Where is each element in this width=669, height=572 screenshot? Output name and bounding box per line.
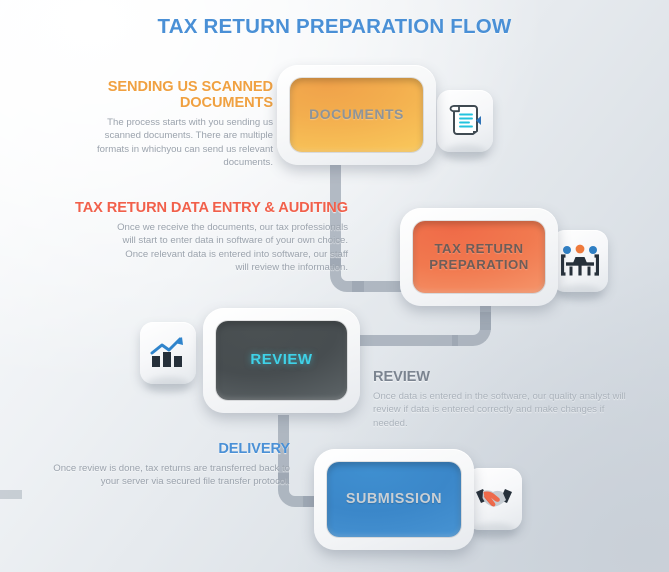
step-heading-taxreturn: TAX RETURN DATA ENTRY & AUDITING [62,200,348,216]
growth-bar-chart-icon [140,322,196,384]
card-label-documents: DOCUMENTS [290,78,423,152]
card-label-taxreturn: TAX RETURN PREPARATION [413,221,545,293]
card-documents[interactable]: DOCUMENTS [277,65,436,165]
connector-submission-inlet [0,490,22,499]
scroll-document-icon [437,90,493,152]
step-heading-delivery: DELIVERY [35,441,290,457]
card-submission[interactable]: SUBMISSION [314,449,474,550]
card-taxreturn[interactable]: TAX RETURN PREPARATION [400,208,558,306]
step-body-delivery: Once review is done, tax returns are tra… [45,462,290,489]
team-meeting-icon [552,230,608,292]
card-review[interactable]: REVIEW [203,308,360,413]
step-text-review: REVIEW Once data is entered in the softw… [373,369,633,430]
step-heading-review: REVIEW [373,369,633,385]
card-label-submission: SUBMISSION [327,462,461,537]
step-text-documents: SENDING US SCANNED DOCUMENTS The process… [18,79,273,170]
card-label-review: REVIEW [216,321,347,400]
step-text-delivery: DELIVERY Once review is done, tax return… [35,441,290,489]
step-body-documents: The process starts with you sending us s… [77,116,273,170]
infographic-canvas: TAX RETURN PREPARATION FLOW SENDING US S… [0,0,669,572]
step-body-review: Once data is entered in the software, ou… [373,390,633,430]
step-heading-documents: SENDING US SCANNED DOCUMENTS [18,79,273,111]
handshake-icon [466,468,522,530]
step-text-taxreturn: TAX RETURN DATA ENTRY & AUDITING Once we… [62,200,348,275]
step-body-taxreturn: Once we receive the documents, our tax p… [116,221,348,275]
page-title: TAX RETURN PREPARATION FLOW [0,15,669,39]
